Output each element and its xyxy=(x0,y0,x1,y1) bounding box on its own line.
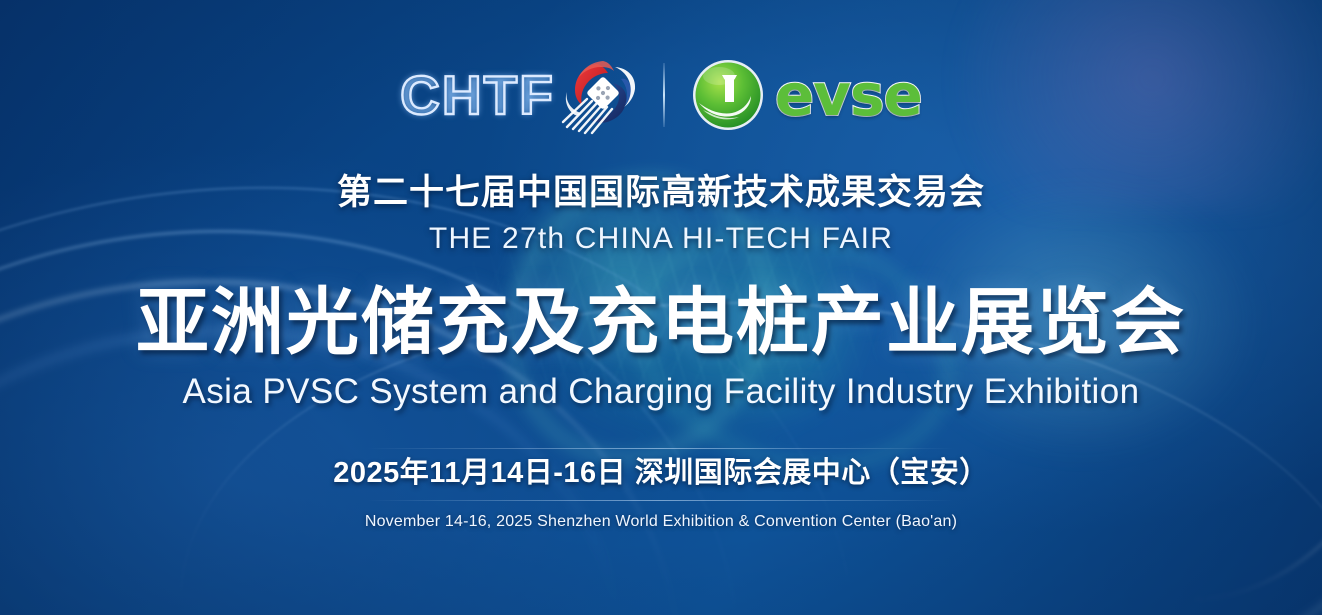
main-title-chinese: 亚洲光储充及充电桩产业展览会 xyxy=(136,285,1186,362)
evse-logo: evse xyxy=(691,58,922,132)
evse-emblem-icon xyxy=(691,58,765,132)
chtf-logo: CHTF xyxy=(400,55,637,135)
logo-row: CHTF xyxy=(400,52,922,138)
divider-line-bottom xyxy=(367,500,955,501)
main-title-english: Asia PVSC System and Charging Facility I… xyxy=(183,373,1140,412)
exhibition-banner: CHTF xyxy=(0,0,1322,615)
date-venue-chinese: 2025年11月14日-16日 深圳国际会展中心（宝安） xyxy=(333,449,988,500)
fair-name-chinese: 第二十七届中国国际高新技术成果交易会 xyxy=(337,174,985,213)
footer-info: 2025年11月14日-16日 深圳国际会展中心（宝安） November 14… xyxy=(333,448,988,531)
chtf-wordmark: CHTF xyxy=(400,68,555,123)
date-venue-english: November 14-16, 2025 Shenzhen World Exhi… xyxy=(365,512,957,531)
evse-wordmark: evse xyxy=(775,66,922,124)
banner-content: CHTF xyxy=(0,0,1322,615)
logo-divider xyxy=(663,63,665,127)
chtf-comet-icon xyxy=(551,55,637,135)
fair-name-english: THE 27th CHINA HI-TECH FAIR xyxy=(429,222,893,255)
